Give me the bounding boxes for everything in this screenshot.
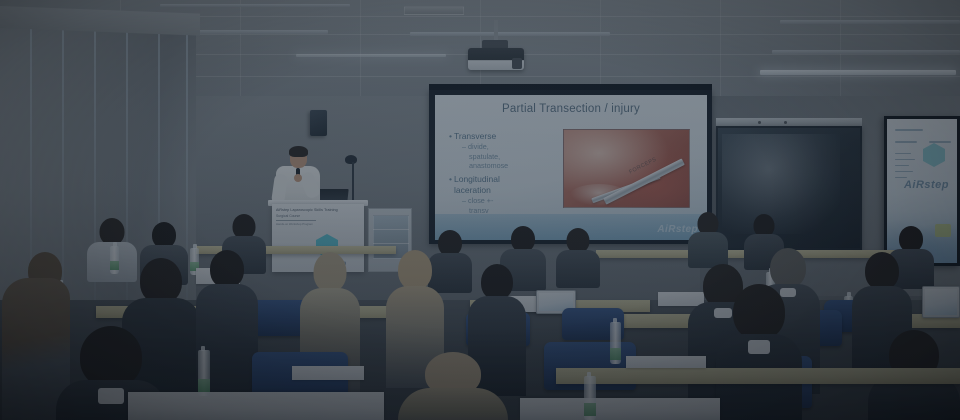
head (865, 252, 899, 290)
slide-subbullet-text: anastomose (469, 161, 508, 170)
slide-bullet-text: Transverse (454, 131, 496, 141)
podium-sign-divider (276, 220, 316, 221)
table (520, 398, 720, 420)
head-gray (770, 248, 806, 288)
torso (556, 250, 600, 288)
audience-member (688, 212, 728, 266)
tablet-screen[interactable] (925, 289, 957, 315)
notepad (292, 366, 364, 380)
microphone-stand (352, 162, 354, 204)
table (556, 368, 960, 384)
wall-speaker (310, 110, 327, 136)
notepad (626, 356, 706, 368)
lecture-hall-photo: Partial Transection / injury •Transverse… (0, 0, 960, 420)
ceiling-light (772, 50, 960, 54)
head (80, 326, 142, 388)
torso (688, 232, 728, 268)
monitor-accent-block (935, 224, 951, 237)
slide-bullet: •Longitudinal (449, 174, 561, 185)
table (128, 392, 384, 420)
slide-subbullet: spatulate, (469, 152, 561, 161)
shirt-collar (98, 388, 124, 404)
water-bottle (584, 376, 596, 420)
ceiling-light (296, 54, 446, 57)
slide-subbullet-text: close +- (468, 196, 493, 205)
slide-bullet: •Transverse (449, 131, 561, 142)
wall-whiteboard (716, 126, 862, 250)
slide-subbullet-text: divide, (468, 142, 489, 151)
head-light-hair (314, 252, 347, 292)
monitor-logo-text: AiRstep (904, 179, 949, 191)
tablet-device[interactable] (922, 286, 960, 318)
water-bottle (198, 350, 210, 396)
ceiling-light (780, 20, 960, 24)
podium-sign-line2: Surgical Course (276, 214, 360, 218)
audience-member (556, 228, 600, 286)
head (733, 284, 785, 340)
shirt-collar (748, 340, 770, 354)
water-bottle (610, 322, 621, 364)
slide-subbullet-text: spatulate, (469, 152, 500, 161)
hexagon-logo-icon (923, 143, 945, 167)
torso (398, 388, 508, 420)
slide-surgical-photo: FORCEPS (563, 129, 690, 208)
podium-sign-line1: AiRstep Laparoscopic Skills Training (276, 208, 360, 212)
microphone-head-icon (345, 155, 357, 164)
slide-bullet-text2: laceration (454, 185, 491, 195)
head (100, 218, 125, 245)
subbullet-marker-icon: – (462, 142, 466, 151)
slide-title: Partial Transection / injury (435, 103, 707, 115)
slide-bullet-text: Longitudinal (454, 174, 500, 184)
audience-member-foreground (716, 284, 802, 420)
presenter-hair (289, 146, 308, 157)
presentation-slide: Partial Transection / injury •Transverse… (435, 95, 707, 240)
head (481, 264, 513, 300)
projector-lens-icon (512, 58, 522, 69)
ceiling-light (760, 70, 956, 75)
water-bottle (110, 246, 119, 274)
podium-sign: AiRstep Laparoscopic Skills Training Sur… (276, 208, 360, 224)
slide-bullet-list: •Transverse – divide, spatulate, anastom… (449, 131, 561, 215)
projector-mount (494, 20, 498, 42)
slide-subbullet: anastomose (469, 161, 561, 170)
audience-member-foreground (398, 352, 508, 420)
podium-sign-line3: Hands-on Workshop Program (276, 222, 360, 226)
slide-bullet-cont: laceration (454, 185, 561, 196)
slide-subbullet: – divide, (462, 142, 561, 151)
ceiling-light (410, 32, 610, 36)
ceiling-vent (404, 6, 464, 15)
slide-subbullet: – close +- (462, 196, 561, 205)
head-light-hair (398, 250, 432, 290)
head (210, 250, 244, 288)
ceiling-light (160, 4, 350, 7)
subbullet-marker-icon: – (462, 196, 466, 205)
presenter-hand (294, 174, 302, 182)
